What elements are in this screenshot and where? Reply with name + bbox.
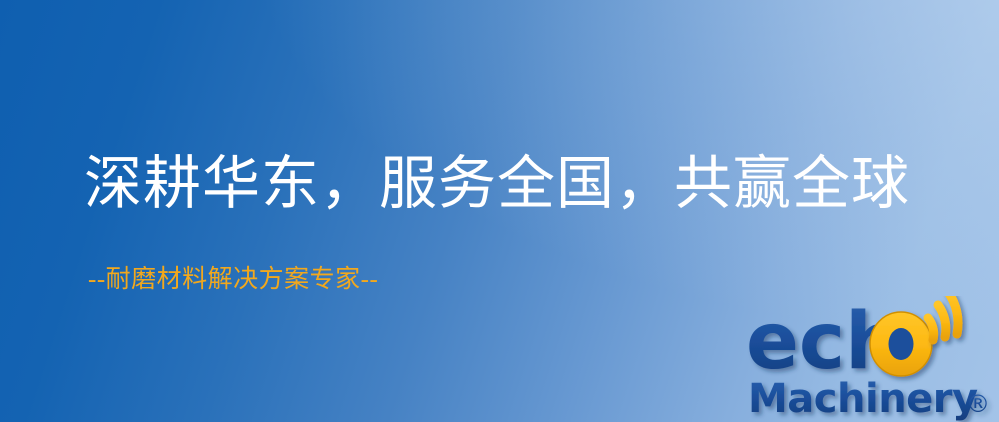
logo-letter-o-counter <box>889 328 914 360</box>
banner-subtitle: --耐磨材料解决方案专家-- <box>88 266 378 294</box>
logo-artwork: ech Machinery ® <box>746 296 999 422</box>
logo-text-machinery: Machinery <box>748 376 978 422</box>
logo-tagline-shape: Machinery ® <box>748 376 990 422</box>
echo-wave-arcs-icon <box>928 296 958 340</box>
hero-banner: 深耕华东，服务全国，共赢全球 --耐磨材料解决方案专家-- <box>0 0 999 422</box>
logo-letter-o-shape <box>870 312 932 376</box>
echo-machinery-logo[interactable]: ech Machinery ® <box>746 296 999 422</box>
banner-headline: 深耕华东，服务全国，共赢全球 <box>84 154 910 215</box>
logo-registered-mark: ® <box>966 390 990 418</box>
echo-wave-arc-2 <box>938 305 946 337</box>
